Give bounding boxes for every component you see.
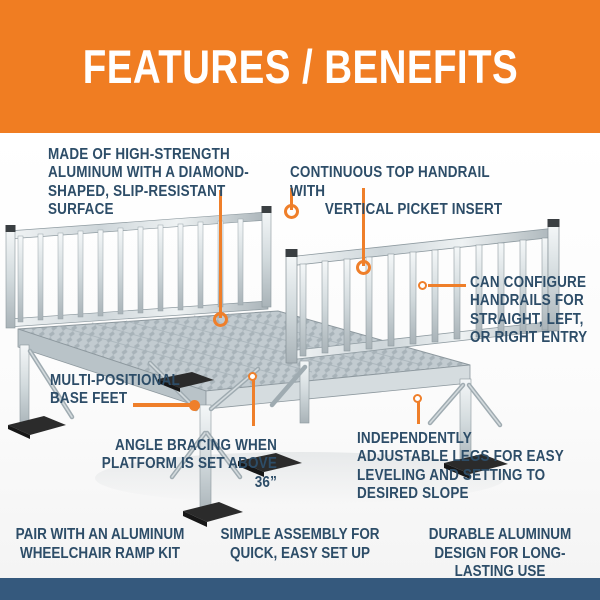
footer-bar (0, 578, 600, 600)
leader-dot-adjustable-legs (413, 394, 422, 403)
page-title: FEATURES / BENEFITS (82, 43, 517, 90)
callout-diamond-surface: MADE OF HIGH-STRENGTH ALUMINUM WITH A DI… (48, 146, 266, 219)
callout-adjustable-legs: INDEPENDENTLY ADJUSTABLE LEGS FOR EASY L… (357, 430, 566, 503)
bottom-feature-assembly-label: SIMPLE ASSEMBLY FOR QUICK, EASY SET UP (213, 526, 387, 563)
leader-dot-handrail-config (418, 281, 427, 290)
leader-line-adjustable-legs (417, 400, 420, 424)
callout-handrail-config: CAN CONFIGURE HANDRAILS FOR STRAIGHT, LE… (470, 274, 587, 347)
bottom-feature-durable: DURABLE ALUMINUM DESIGN FOR LONG-LASTING… (400, 522, 600, 578)
leader-dot-handrail-right (356, 260, 371, 275)
leader-dot-base-feet (189, 400, 200, 411)
bottom-feature-durable-label: DURABLE ALUMINUM DESIGN FOR LONG-LASTING… (413, 526, 587, 582)
callout-top-handrail-line2: VERTICAL PICKET INSERT (290, 201, 508, 219)
bottom-feature-row: PAIR WITH AN ALUMINUM WHEELCHAIR RAMP KI… (0, 522, 600, 578)
callout-angle-bracing: ANGLE BRACING WHEN PLATFORM IS SET ABOVE… (90, 437, 277, 492)
callout-base-feet: MULTI-POSITIONAL BASE FEET (50, 372, 181, 409)
leader-dot-angle-bracing (248, 372, 257, 381)
bottom-feature-assembly: SIMPLE ASSEMBLY FOR QUICK, EASY SET UP (200, 522, 400, 578)
leader-line-angle-bracing (252, 378, 255, 426)
callout-top-handrail-line1: CONTINUOUS TOP HANDRAIL WITH (290, 164, 490, 199)
leader-dot-diamond-surface (213, 312, 228, 327)
bottom-feature-ramp-kit: PAIR WITH AN ALUMINUM WHEELCHAIR RAMP KI… (0, 522, 200, 578)
bottom-feature-ramp-kit-label: PAIR WITH AN ALUMINUM WHEELCHAIR RAMP KI… (13, 526, 187, 563)
handrail-back (6, 206, 272, 328)
callout-top-handrail: CONTINUOUS TOP HANDRAIL WITH VERTICAL PI… (290, 146, 508, 237)
infographic-stage: FEATURES / BENEFITS (0, 0, 600, 600)
header-banner: FEATURES / BENEFITS (0, 0, 600, 133)
leader-line-handrail-config (428, 284, 466, 287)
